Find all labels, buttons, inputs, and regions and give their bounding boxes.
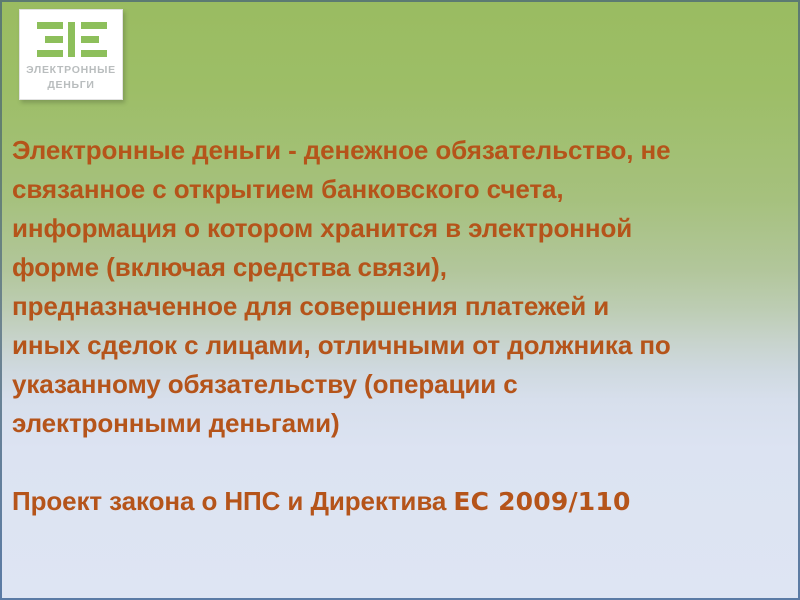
definition-line-4: форме (включая средства связи),: [12, 248, 796, 287]
slide-canvas: ЭЛЕКТРОННЫЕ ДЕНЬГИ Электронные деньги - …: [0, 0, 800, 600]
logo-wordmark-line1: ЭЛЕКТРОННЫЕ: [20, 63, 122, 78]
logo-container: ЭЛЕКТРОННЫЕ ДЕНЬГИ: [19, 9, 123, 100]
logo-wordmark: ЭЛЕКТРОННЫЕ ДЕНЬГИ: [20, 63, 122, 93]
definition-line-6: иных сделок с лицами, отличными от должн…: [12, 326, 796, 365]
source-reference-main: Проект закона о НПС и Директива: [12, 486, 453, 516]
source-reference-directive: ЕС 2009/110: [453, 487, 630, 516]
electronic-money-mark-icon: [37, 22, 107, 58]
definition-line-5: предназначенное для совершения платежей …: [12, 287, 796, 326]
paragraph-spacer: [12, 443, 796, 482]
source-reference-line: Проект закона о НПС и Директива ЕС 2009/…: [12, 482, 796, 521]
definition-line-2: связанное с открытием банковского счета,: [12, 170, 796, 209]
slide-body-text: Электронные деньги - денежное обязательс…: [12, 131, 796, 521]
definition-line-1: Электронные деньги - денежное обязательс…: [12, 131, 796, 170]
logo-wordmark-line2: ДЕНЬГИ: [20, 78, 122, 93]
definition-line-7: указанному обязательству (операции с: [12, 365, 796, 404]
definition-line-8: электронными деньгами): [12, 404, 796, 443]
definition-line-3: информация о котором хранится в электрон…: [12, 209, 796, 248]
